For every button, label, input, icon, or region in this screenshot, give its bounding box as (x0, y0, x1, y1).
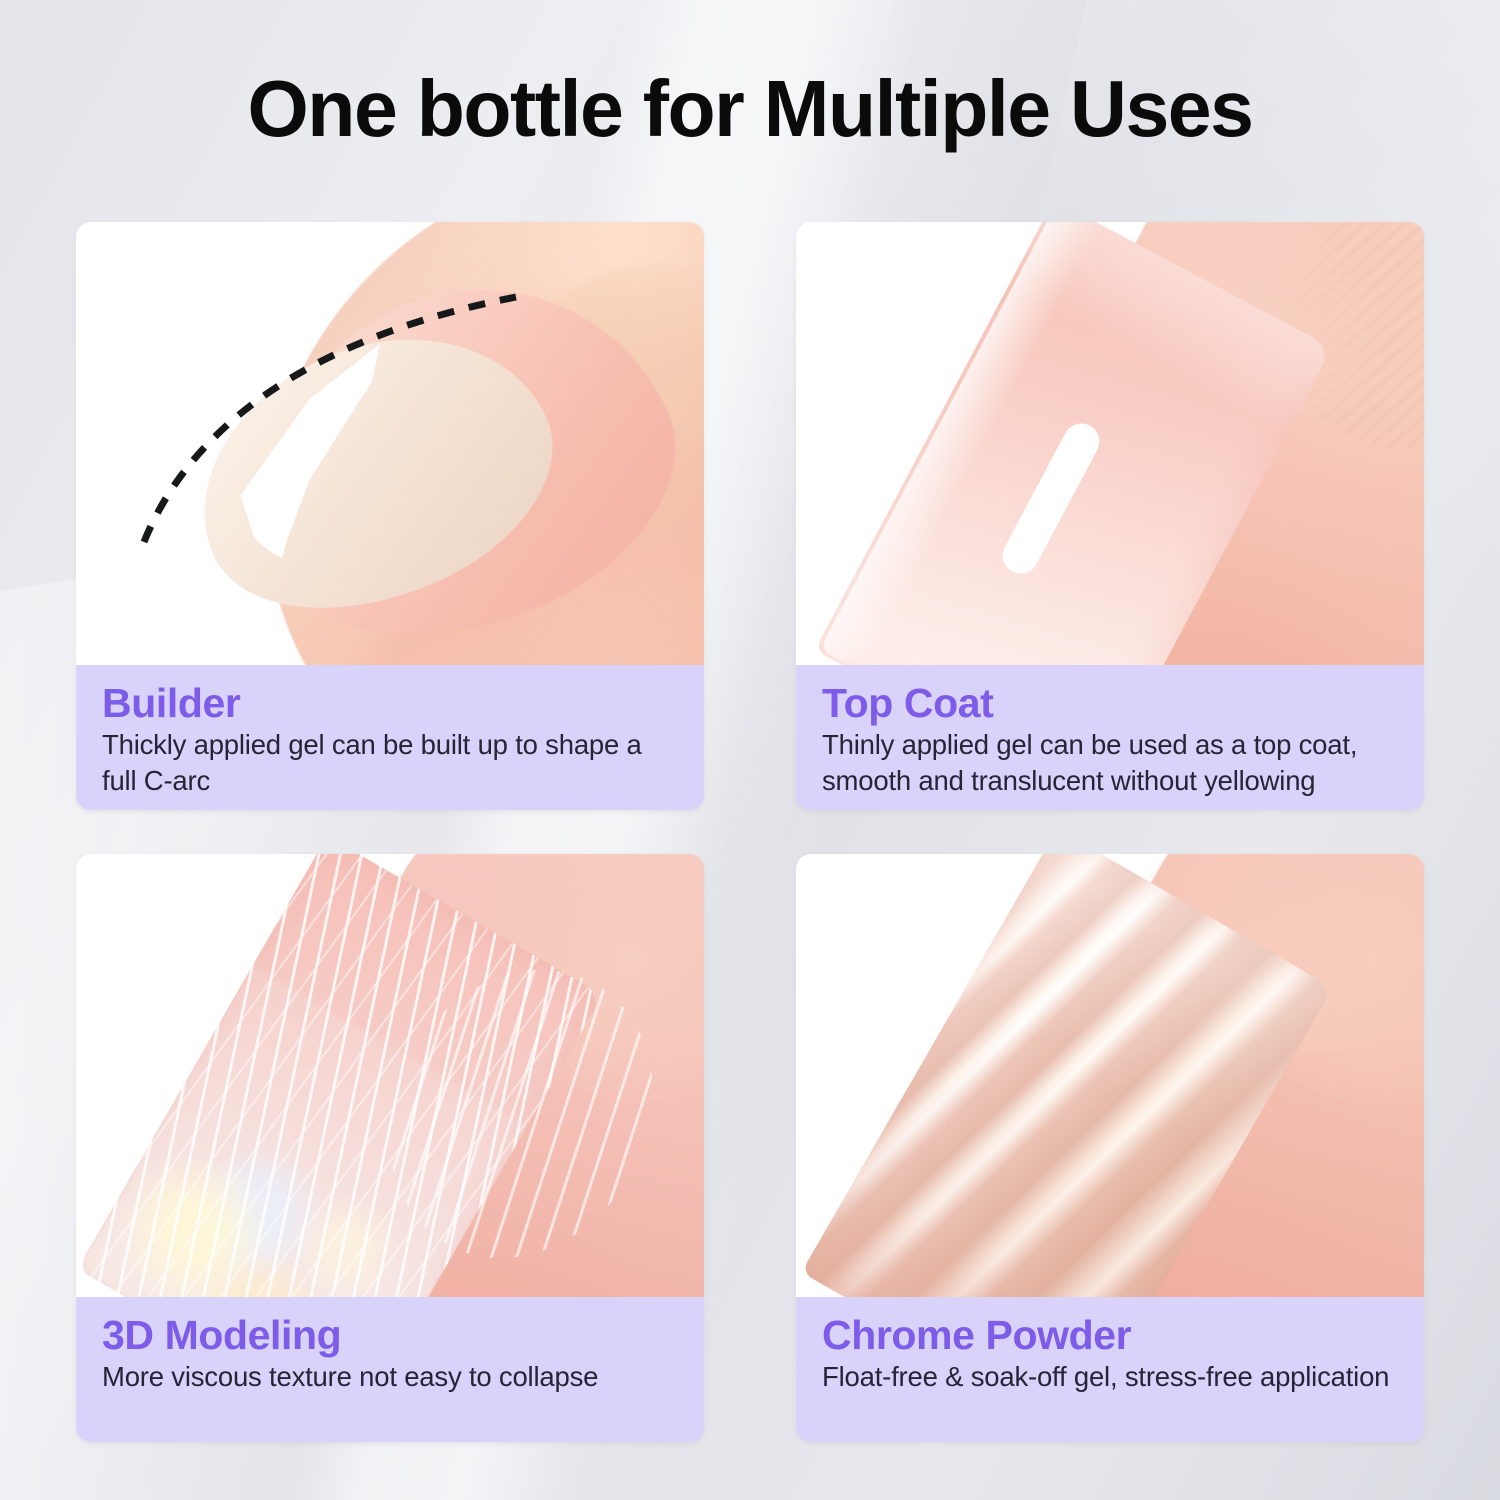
3d-modeling-description: More viscous texture not easy to collaps… (102, 1359, 678, 1395)
feature-card-builder: Builder Thickly applied gel can be built… (76, 222, 704, 810)
page-title: One bottle for Multiple Uses (11, 69, 1489, 149)
3d-modeling-heading: 3D Modeling (102, 1313, 678, 1357)
chrome-powder-nail-photo (796, 854, 1424, 1297)
3d-modeling-caption-panel: 3D Modeling More viscous texture not eas… (76, 1297, 704, 1442)
feature-card-chrome-powder: Chrome Powder Float-free & soak-off gel,… (796, 854, 1424, 1442)
builder-caption-panel: Builder Thickly applied gel can be built… (76, 665, 704, 810)
nail-tip-shading (801, 1175, 1133, 1297)
chrome-powder-caption-panel: Chrome Powder Float-free & soak-off gel,… (796, 1297, 1424, 1442)
chrome-powder-heading: Chrome Powder (822, 1313, 1398, 1357)
top-coat-caption-panel: Top Coat Thinly applied gel can be used … (796, 665, 1424, 810)
builder-nail-photo (76, 222, 704, 665)
3d-modeling-nail-photo (76, 854, 704, 1297)
chrome-powder-description: Float-free & soak-off gel, stress-free a… (822, 1359, 1398, 1395)
c-arc-dashed-line (76, 222, 704, 665)
feature-card-top-coat: Top Coat Thinly applied gel can be used … (796, 222, 1424, 810)
builder-description: Thickly applied gel can be built up to s… (102, 727, 678, 799)
top-coat-nail-photo (796, 222, 1424, 665)
feature-card-3d-modeling: 3D Modeling More viscous texture not eas… (76, 854, 704, 1442)
top-coat-description: Thinly applied gel can be used as a top … (822, 727, 1398, 799)
feature-card-grid: Builder Thickly applied gel can be built… (76, 222, 1424, 1442)
builder-heading: Builder (102, 681, 678, 725)
top-coat-heading: Top Coat (822, 681, 1398, 725)
infographic-page: One bottle for Multiple Uses Builder Thi… (0, 0, 1500, 1500)
